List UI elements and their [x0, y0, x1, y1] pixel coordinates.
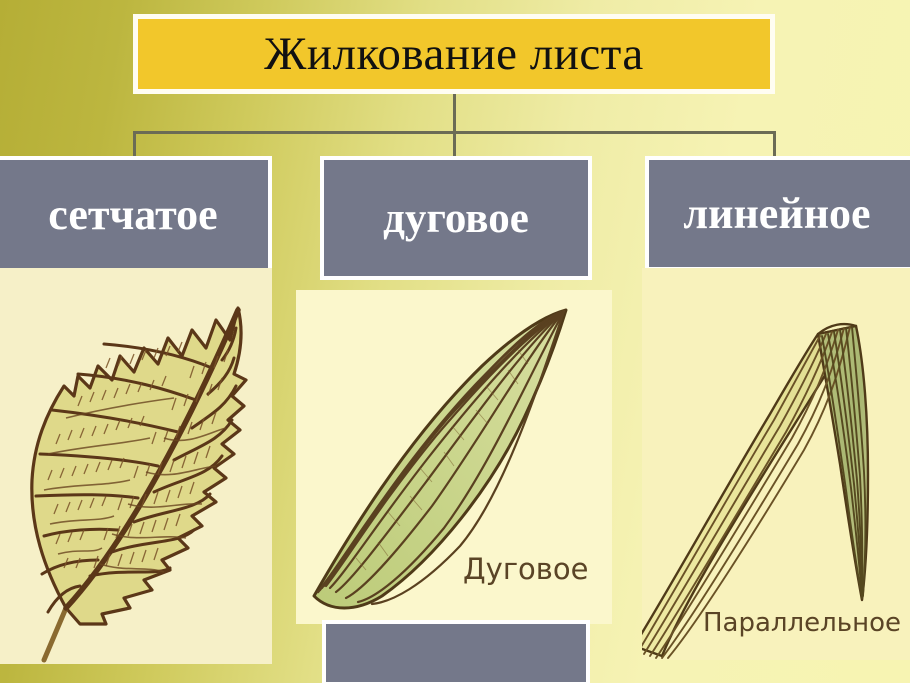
- category-label-netted[interactable]: сетчатое: [0, 156, 272, 272]
- illustration-parallel-venation: [642, 268, 910, 660]
- category-label-arcuate-text: дуговое: [383, 194, 529, 243]
- category-foot-arcuate: [322, 620, 590, 683]
- slide-title-box: Жилкование листа: [133, 14, 775, 94]
- connector-title-stem: [453, 94, 456, 132]
- category-label-arcuate[interactable]: дуговое: [320, 156, 592, 280]
- category-label-netted-text: сетчатое: [48, 189, 217, 240]
- slide-title-text: Жилкование листа: [264, 31, 643, 78]
- parallel-leaf-drawing: [642, 268, 910, 660]
- slide-canvas: Жилкование листа сетчатое дуговое линейн…: [0, 0, 910, 683]
- illustration-netted-venation: [0, 268, 272, 664]
- category-label-linear-text: линейное: [683, 188, 870, 239]
- caption-parallel: Параллельное: [703, 608, 901, 638]
- category-label-linear[interactable]: линейное: [645, 156, 910, 271]
- caption-arcuate: Дуговое: [463, 552, 588, 586]
- connector-drop-arcuate: [453, 131, 456, 159]
- netted-leaf-drawing: [0, 268, 272, 664]
